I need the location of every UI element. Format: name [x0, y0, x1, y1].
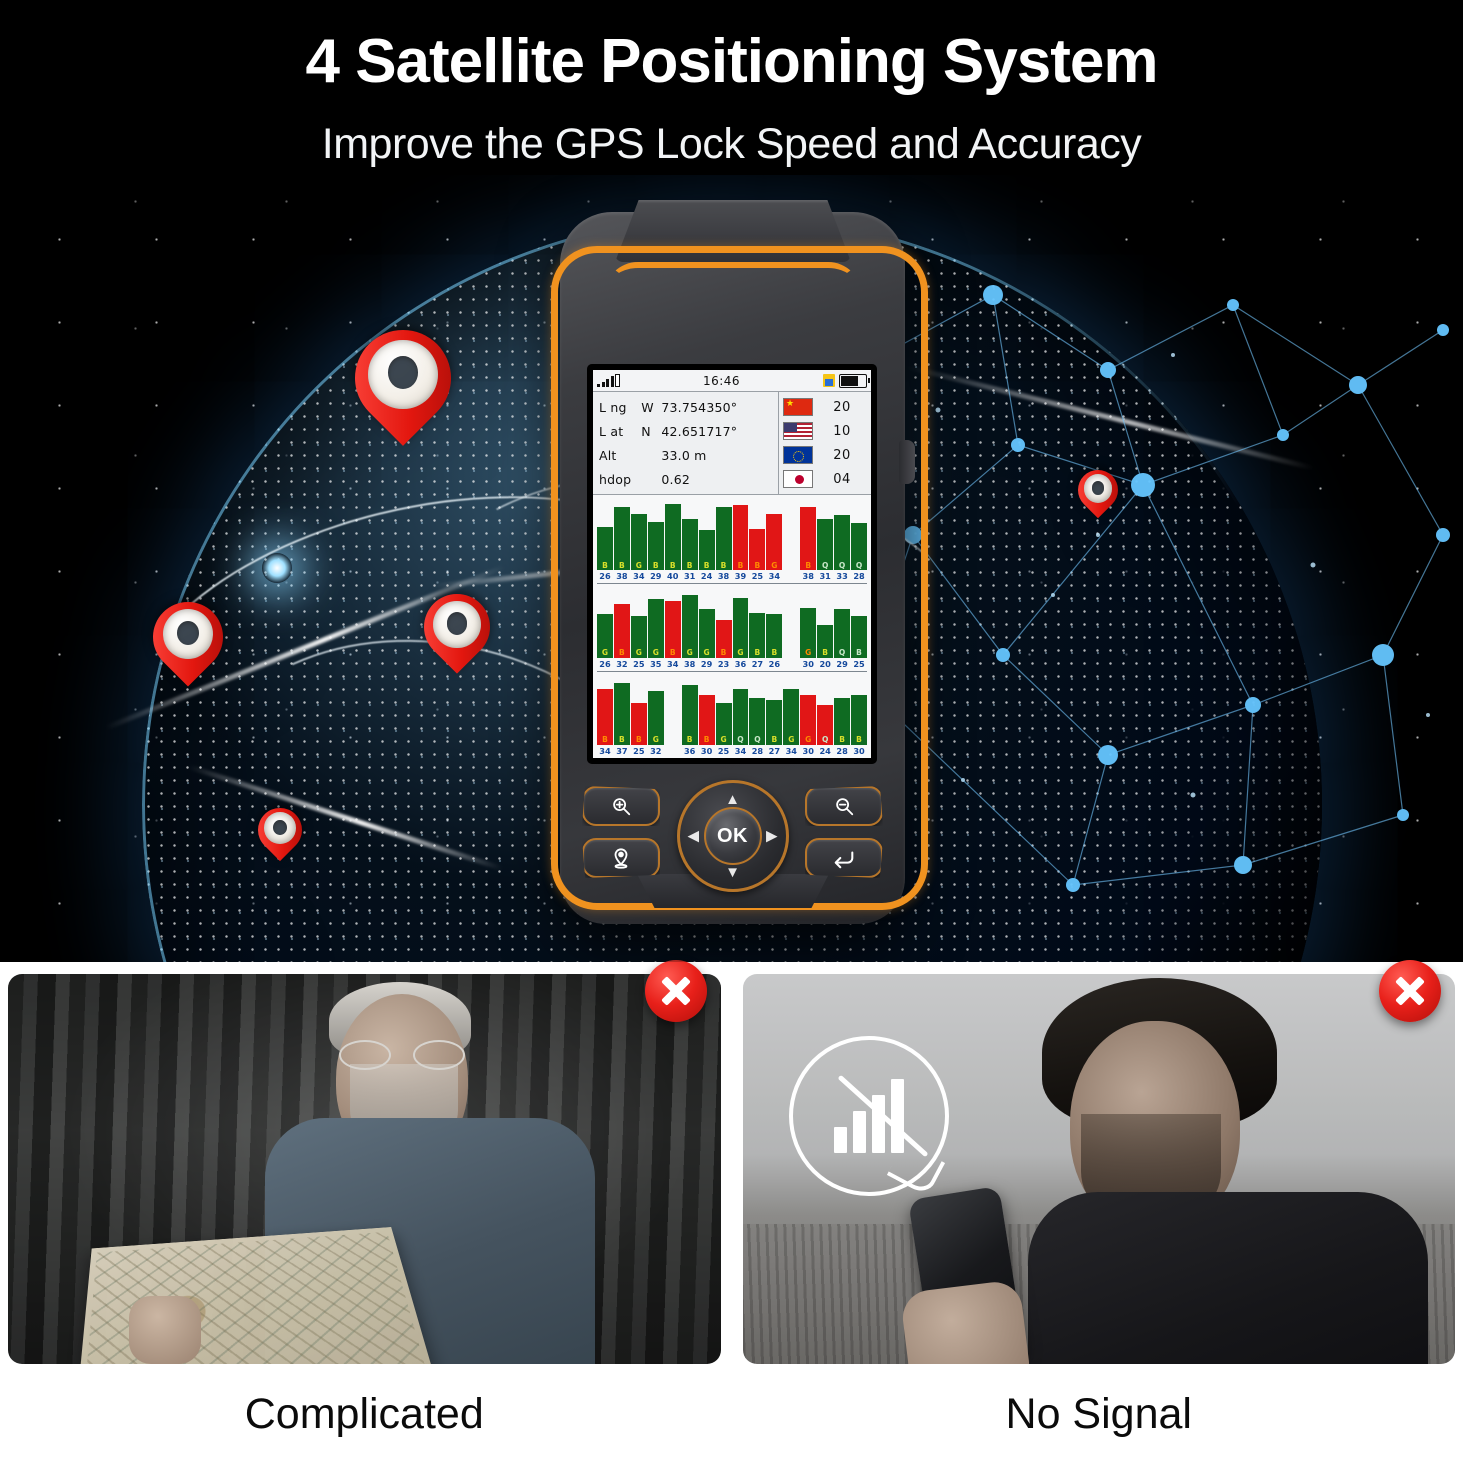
- bar-value-label: 30: [800, 658, 816, 670]
- bar-slot: G: [766, 497, 782, 570]
- bar-value-label: 27: [766, 745, 782, 757]
- readout-hemisphere: N: [641, 420, 657, 444]
- system-letter: B: [687, 562, 693, 571]
- system-letter: B: [856, 649, 862, 658]
- card-complicated: Complicated: [8, 974, 721, 1464]
- bar-value-label: 31: [682, 570, 698, 582]
- system-letter: B: [704, 736, 710, 745]
- dpad-left-button[interactable]: ◀: [688, 829, 700, 844]
- signal-bar: Q: [851, 523, 867, 570]
- device-side-knob: [899, 440, 915, 484]
- flag-eu-icon: [783, 446, 813, 464]
- bar-value-label: 40: [665, 570, 681, 582]
- bar-value-labels: 343725323630253428273430242830: [597, 745, 867, 757]
- page-title: 4 Satellite Positioning System: [0, 26, 1463, 97]
- signal-bar: G: [783, 689, 799, 745]
- system-letter: B: [619, 736, 625, 745]
- zoom-in-icon: [610, 795, 632, 817]
- bar-value-label: 34: [597, 745, 613, 757]
- system-letter: G: [805, 736, 811, 745]
- system-letter: B: [670, 649, 676, 658]
- signal-bar: G: [682, 595, 698, 658]
- bar-value-label: 30: [699, 745, 715, 757]
- bar-slot: G: [648, 584, 664, 657]
- bar-slot: G: [597, 584, 613, 657]
- signal-bar: B: [648, 522, 664, 570]
- signal-bar: G: [733, 598, 749, 658]
- bar-slot: B: [851, 672, 867, 745]
- bar-value-label: 32: [648, 745, 664, 757]
- signal-bar: B: [682, 685, 698, 745]
- bar-slot: B: [699, 672, 715, 745]
- card-caption: No Signal: [743, 1364, 1456, 1464]
- bar-value-label: 34: [631, 570, 647, 582]
- bar-value-label: 20: [817, 658, 833, 670]
- signal-bar: G: [597, 614, 613, 657]
- bar-slot: Q: [834, 497, 850, 570]
- bar-value-label: 30: [851, 745, 867, 757]
- constellation-counts: 20 10 20 04: [778, 392, 871, 494]
- page-subtitle: Improve the GPS Lock Speed and Accuracy: [0, 120, 1463, 169]
- signal-bar: Q: [749, 698, 765, 745]
- system-letter: G: [788, 736, 794, 745]
- bar-slot: G: [648, 672, 664, 745]
- bar-value-label: 26: [597, 658, 613, 670]
- readout-value: 73.754350°: [661, 400, 737, 415]
- map-pin-icon-2: [153, 602, 223, 672]
- figure-glasses: [339, 1040, 465, 1066]
- readout-key: L at: [599, 420, 637, 444]
- bar-slot: B: [665, 584, 681, 657]
- bar-group: BBGBBBBBBBGBQQQ: [597, 497, 867, 570]
- bar-slot: G: [733, 584, 749, 657]
- satellite-count: 10: [813, 424, 871, 439]
- bar-slot: B: [716, 584, 732, 657]
- bar-value-label: 34: [733, 745, 749, 757]
- system-letter: G: [805, 649, 811, 658]
- bar-slot: B: [749, 584, 765, 657]
- system-letter: Q: [822, 562, 828, 571]
- signal-bar: B: [597, 527, 613, 570]
- bar-value-label: 28: [851, 570, 867, 582]
- position-readout: L ng W 73.754350° L at N 42.651717° Alt: [593, 392, 871, 495]
- bar-value-label: 27: [749, 658, 765, 670]
- system-letter: G: [687, 649, 693, 658]
- satellite-chart-row-1: BBGBBBBBBBGBQQQ2638342940312438392534383…: [597, 497, 867, 584]
- bar-value-label: 34: [665, 658, 681, 670]
- bar-value-label: 29: [834, 658, 850, 670]
- signal-bar: B: [682, 519, 698, 570]
- readout-hemisphere: W: [641, 396, 657, 420]
- signal-bar: B: [733, 505, 749, 570]
- device-keypad: ▲ ▼ ◀ ▶ OK: [560, 780, 905, 892]
- signal-bar: B: [699, 695, 715, 745]
- readout-key: L ng: [599, 396, 637, 420]
- bar-value-label: 34: [783, 745, 799, 757]
- ok-button[interactable]: OK: [704, 807, 762, 865]
- signal-bar: G: [699, 609, 715, 657]
- sd-card-icon: [823, 374, 835, 387]
- bar-slot: Q: [834, 584, 850, 657]
- system-letter: Q: [822, 736, 828, 745]
- signal-bar: B: [834, 698, 850, 745]
- bar-slot: B: [834, 672, 850, 745]
- comparison-cards: Complicated No Signal: [0, 962, 1463, 1464]
- system-letter: Q: [754, 736, 760, 745]
- bar-slot: G: [631, 497, 647, 570]
- satellite-chart-row-3: BBBGBBGQQBGGQBB3437253236302534282734302…: [597, 672, 867, 758]
- bar-slot: Q: [817, 497, 833, 570]
- bar-slot: G: [800, 672, 816, 745]
- bar-value-label: 25: [631, 745, 647, 757]
- system-letter: B: [822, 649, 828, 658]
- bar-slot: B: [733, 497, 749, 570]
- card-no-signal: No Signal: [743, 974, 1456, 1464]
- coordinate-list: L ng W 73.754350° L at N 42.651717° Alt: [593, 392, 778, 494]
- system-letter: B: [602, 562, 608, 571]
- bar-value-label: 30: [800, 745, 816, 757]
- bar-slot: B: [749, 497, 765, 570]
- system-letter: B: [771, 736, 777, 745]
- bar-slot: B: [614, 584, 630, 657]
- signal-bar: G: [648, 691, 664, 745]
- zoom-out-button[interactable]: [805, 786, 883, 826]
- system-letter: G: [653, 736, 659, 745]
- bar-value-label: 38: [800, 570, 816, 582]
- readout-row-hdop: hdop 0.62: [599, 468, 778, 492]
- system-letter: B: [839, 736, 845, 745]
- bar-value-label: 26: [766, 658, 782, 670]
- signal-bar: B: [614, 507, 630, 570]
- system-letter: Q: [737, 736, 743, 745]
- bar-slot: B: [665, 497, 681, 570]
- system-letter: G: [653, 649, 659, 658]
- no-signal-icon: [834, 1079, 904, 1153]
- system-letter: G: [704, 649, 710, 658]
- system-letter: B: [771, 649, 777, 658]
- bar-slot: G: [682, 584, 698, 657]
- readout-value: 42.651717°: [661, 424, 737, 439]
- bar-value-label: 25: [716, 745, 732, 757]
- signal-bar: G: [800, 608, 816, 658]
- hero-banner: 4 Satellite Positioning System Improve t…: [0, 0, 1463, 962]
- readout-key: hdop: [599, 468, 637, 492]
- signal-bar: B: [631, 703, 647, 745]
- map-pin-icon-3: [424, 594, 490, 660]
- bar-slot: B: [614, 672, 630, 745]
- system-letter: B: [704, 562, 710, 571]
- dpad-right-button[interactable]: ▶: [766, 829, 778, 844]
- signal-bar: B: [597, 689, 613, 745]
- system-letter: G: [636, 649, 642, 658]
- signal-bar: G: [766, 514, 782, 570]
- system-letter: B: [619, 649, 625, 658]
- bar-slot: G: [699, 584, 715, 657]
- readout-row-lng: L ng W 73.754350°: [599, 396, 778, 420]
- x-mark-icon: [645, 960, 707, 1022]
- bar-value-label: 34: [766, 570, 782, 582]
- bar-slot: B: [614, 497, 630, 570]
- system-letter: B: [721, 562, 727, 571]
- signal-bar: Q: [733, 689, 749, 745]
- signal-bar: G: [631, 616, 647, 658]
- signal-bar: B: [665, 601, 681, 657]
- signal-bar: B: [614, 683, 630, 745]
- zoom-out-icon: [833, 795, 855, 817]
- signal-bar: B: [800, 507, 816, 570]
- bar-slot: B: [766, 584, 782, 657]
- signal-bar: B: [716, 620, 732, 658]
- readout-row-alt: Alt 33.0 m: [599, 444, 778, 468]
- photo-man-with-phone: [743, 974, 1456, 1364]
- readout-value: 0.62: [661, 472, 690, 487]
- flag-usa-icon: [783, 422, 813, 440]
- figure-hand: [900, 1279, 1033, 1364]
- bar-value-label: 32: [614, 658, 630, 670]
- bar-value-label: 25: [851, 658, 867, 670]
- signal-bar: G: [631, 514, 647, 570]
- bar-slot: Q: [851, 497, 867, 570]
- system-letter: B: [653, 562, 659, 571]
- photo-man-with-map: [8, 974, 721, 1364]
- bar-value-label: 25: [631, 658, 647, 670]
- back-button[interactable]: [805, 838, 883, 878]
- gps-handheld-device: 16:46 L ng W 73.754350° L at N: [560, 212, 905, 924]
- bar-value-label: 28: [749, 745, 765, 757]
- bar-slot: G: [783, 672, 799, 745]
- bar-slot: G: [631, 584, 647, 657]
- bar-value-label: 25: [749, 570, 765, 582]
- constellation-row-japan: 04: [779, 467, 871, 491]
- signal-bar: B: [716, 507, 732, 570]
- bar-group: GBGGBGGBGBBGBQB: [597, 584, 867, 657]
- system-letter: Q: [839, 562, 845, 571]
- bar-slot: Q: [733, 672, 749, 745]
- bar-slot: G: [800, 584, 816, 657]
- satellite-signal-charts: BBGBBBBBBBGBQQQ2638342940312438392534383…: [593, 495, 871, 758]
- dpad-down-button[interactable]: ▼: [725, 865, 740, 880]
- signal-bar: Q: [817, 519, 833, 570]
- satellite-count: 20: [813, 448, 871, 463]
- bar-value-label: 33: [834, 570, 850, 582]
- signal-bar: B: [817, 625, 833, 658]
- device-screen: 16:46 L ng W 73.754350° L at N: [587, 364, 877, 764]
- status-clock: 16:46: [620, 374, 823, 388]
- bar-slot: B: [631, 672, 647, 745]
- waypoint-button[interactable]: [582, 838, 660, 878]
- system-letter: B: [856, 736, 862, 745]
- flag-china-icon: [783, 398, 813, 416]
- waypoint-pin-icon: [610, 847, 632, 869]
- flag-japan-icon: [783, 470, 813, 488]
- signal-bar: B: [749, 613, 765, 658]
- readout-key: Alt: [599, 444, 637, 468]
- x-mark-icon: [1379, 960, 1441, 1022]
- back-arrow-icon: [832, 847, 856, 869]
- bar-slot: B: [682, 672, 698, 745]
- figure-hand: [129, 1296, 201, 1364]
- bar-value-label: 36: [682, 745, 698, 757]
- bar-value-label: 29: [648, 570, 664, 582]
- bar-slot: B: [817, 584, 833, 657]
- bar-value-label: 29: [699, 658, 715, 670]
- system-letter: B: [636, 736, 642, 745]
- bar-slot: B: [597, 497, 613, 570]
- bar-value-label: 36: [733, 658, 749, 670]
- bar-slot: B: [699, 497, 715, 570]
- satellite-count: 04: [813, 472, 871, 487]
- signal-bar: B: [614, 604, 630, 658]
- battery-icon: [839, 374, 867, 388]
- signal-bar: G: [800, 695, 816, 745]
- system-letter: G: [636, 562, 642, 571]
- signal-bar: Q: [834, 515, 850, 570]
- map-pin-icon-1: [355, 330, 451, 426]
- dpad-up-button[interactable]: ▲: [725, 792, 740, 807]
- bar-value-label: 38: [682, 658, 698, 670]
- direction-pad[interactable]: ▲ ▼ ◀ ▶ OK: [677, 780, 789, 892]
- satellite-chart-row-2: GBGGBGGBGBBGBQB2632253534382923362726302…: [597, 584, 867, 671]
- signal-bar: G: [716, 703, 732, 745]
- bar-slot: Q: [749, 672, 765, 745]
- bar-value-label: 26: [597, 570, 613, 582]
- bar-slot: Q: [817, 672, 833, 745]
- bar-value-label: 35: [648, 658, 664, 670]
- bar-slot: B: [648, 497, 664, 570]
- signal-bar: B: [766, 614, 782, 657]
- system-letter: B: [619, 562, 625, 571]
- readout-row-lat: L at N 42.651717°: [599, 420, 778, 444]
- system-letter: B: [721, 649, 727, 658]
- bar-value-label: 28: [834, 745, 850, 757]
- constellation-row-eu: 20: [779, 443, 871, 467]
- signal-bar: B: [851, 616, 867, 658]
- system-letter: B: [755, 562, 761, 571]
- constellation-row-usa: 10: [779, 419, 871, 443]
- signal-bar: B: [699, 530, 715, 570]
- signal-bar: B: [665, 504, 681, 571]
- bar-value-labels: 263225353438292336272630202925: [597, 658, 867, 670]
- no-signal-speech-bubble: [789, 1036, 949, 1196]
- signal-bars-icon: [597, 375, 620, 387]
- bar-value-label: 38: [614, 570, 630, 582]
- system-letter: B: [755, 649, 761, 658]
- card-caption: Complicated: [8, 1364, 721, 1464]
- bar-value-label: 31: [817, 570, 833, 582]
- figure-torso: [1028, 1192, 1428, 1364]
- bar-value-label: 24: [817, 745, 833, 757]
- system-letter: B: [738, 562, 744, 571]
- zoom-in-button[interactable]: [582, 786, 660, 826]
- bar-value-label: 38: [716, 570, 732, 582]
- bar-slot: B: [597, 672, 613, 745]
- signal-bar: B: [851, 695, 867, 745]
- system-letter: G: [720, 736, 726, 745]
- system-letter: Q: [839, 649, 845, 658]
- bar-slot: G: [716, 672, 732, 745]
- signal-bar: B: [749, 529, 765, 571]
- system-letter: Q: [856, 562, 862, 571]
- bar-slot: B: [716, 497, 732, 570]
- lcd-panel: 16:46 L ng W 73.754350° L at N: [593, 370, 871, 758]
- bar-value-label: 24: [699, 570, 715, 582]
- system-letter: B: [805, 562, 811, 571]
- system-letter: B: [670, 562, 676, 571]
- map-pin-icon-4: [258, 808, 302, 852]
- system-letter: G: [737, 649, 743, 658]
- constellation-row-china: 20: [779, 395, 871, 419]
- bar-slot: B: [766, 672, 782, 745]
- bar-slot: B: [851, 584, 867, 657]
- system-letter: B: [687, 736, 693, 745]
- bar-slot: B: [682, 497, 698, 570]
- readout-value: 33.0 m: [661, 448, 706, 463]
- bar-value-labels: 263834294031243839253438313328: [597, 570, 867, 582]
- bar-group: BBBGBBGQQBGGQBB: [597, 672, 867, 745]
- signal-bar: Q: [817, 705, 833, 745]
- map-pin-icon-5: [1078, 470, 1118, 510]
- bar-value-label: 39: [733, 570, 749, 582]
- signal-bar: G: [648, 599, 664, 658]
- bar-value-label: 37: [614, 745, 630, 757]
- system-letter: B: [602, 736, 608, 745]
- status-bar: 16:46: [593, 370, 871, 392]
- signal-bar: Q: [834, 609, 850, 657]
- system-letter: G: [602, 649, 608, 658]
- bar-slot: B: [800, 497, 816, 570]
- signal-bar: B: [766, 700, 782, 745]
- satellite-count: 20: [813, 400, 871, 415]
- system-letter: G: [771, 562, 777, 571]
- bar-value-label: 23: [716, 658, 732, 670]
